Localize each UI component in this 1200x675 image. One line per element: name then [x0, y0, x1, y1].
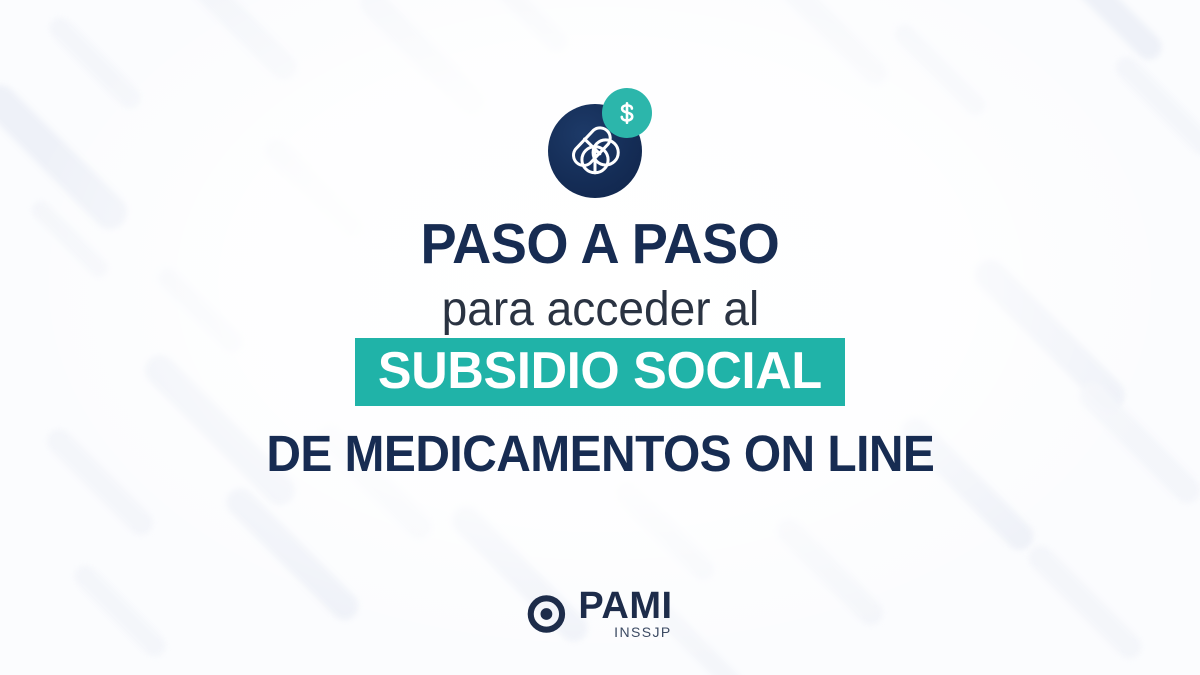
headline-line-4: DE MEDICAMENTOS ON LINE	[266, 428, 934, 479]
dollar-sign-icon	[602, 88, 652, 138]
headline-highlight-bar: SUBSIDIO SOCIAL	[355, 338, 845, 406]
poster-content: PASO A PASO para acceder al SUBSIDIO SOC…	[0, 0, 1200, 675]
headline-line-3: SUBSIDIO SOCIAL	[378, 345, 822, 397]
headline-line-1: PASO A PASO	[421, 216, 780, 273]
headline-line-2: para acceder al	[441, 285, 759, 335]
headline-block: PASO A PASO para acceder al SUBSIDIO SOC…	[245, 216, 956, 479]
subsidy-medication-badge	[530, 104, 670, 200]
poster-canvas: PASO A PASO para acceder al SUBSIDIO SOC…	[0, 0, 1200, 675]
